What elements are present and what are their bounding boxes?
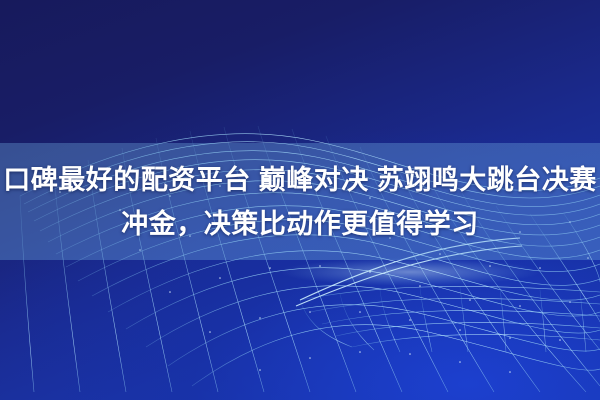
headline-text: 口碑最好的配资平台 巅峰对决 苏翊鸣大跳台决赛 冲金，决策比动作更值得学习 — [0, 158, 600, 246]
headline-line-1: 口碑最好的配资平台 巅峰对决 苏翊鸣大跳台决赛 — [0, 158, 600, 202]
headline-line-2: 冲金，决策比动作更值得学习 — [0, 202, 600, 246]
promo-banner: 口碑最好的配资平台 巅峰对决 苏翊鸣大跳台决赛 冲金，决策比动作更值得学习 — [0, 0, 600, 400]
